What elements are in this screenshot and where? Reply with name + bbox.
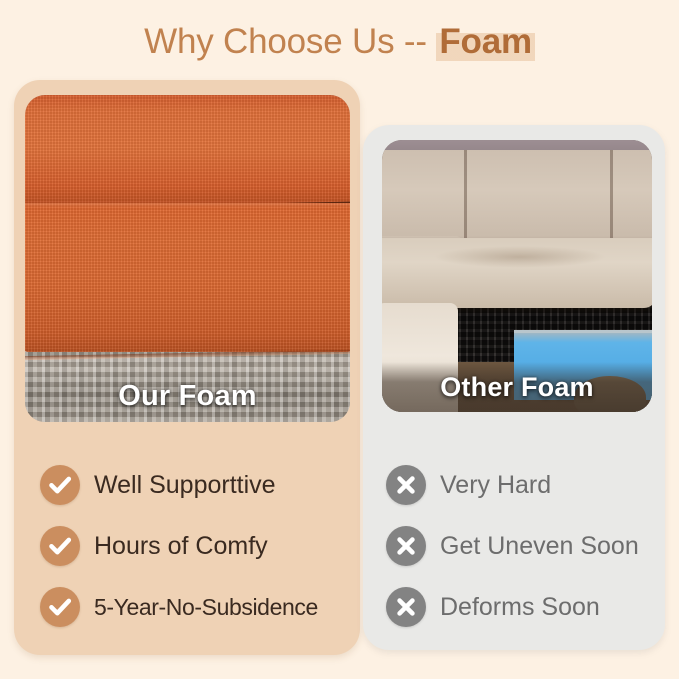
check-icon (40, 587, 80, 627)
list-item-label: Get Uneven Soon (440, 533, 639, 559)
list-item-label: Deforms Soon (440, 594, 600, 620)
list-item: Hours of Comfy (40, 516, 350, 576)
list-item-label: Well Supporttive (94, 472, 276, 498)
cushion-divider (464, 150, 467, 250)
other-foam-feature-list: Very Hard Get Uneven Soon Deforms Soon (386, 455, 661, 637)
list-item: Get Uneven Soon (386, 516, 661, 576)
page-title-highlight: Foam (436, 22, 535, 61)
orange-seat-cushion (25, 203, 350, 352)
list-item-label: 5-Year-No-Subsidence (94, 595, 318, 619)
cushion-divider (610, 150, 613, 250)
list-item: Well Supporttive (40, 455, 350, 515)
our-foam-feature-list: Well Supporttive Hours of Comfy 5-Year-N… (40, 455, 350, 637)
other-foam-photo: Other Foam (382, 140, 652, 412)
check-icon (40, 465, 80, 505)
cross-icon (386, 587, 426, 627)
comparison-infographic: Why Choose Us -- Foam Our Foam Well Supp… (0, 0, 679, 679)
list-item: Deforms Soon (386, 577, 661, 637)
our-foam-caption: Our Foam (25, 380, 350, 422)
cushion-sag-shadow (434, 246, 606, 268)
check-icon (40, 526, 80, 566)
page-title-normal: Why Choose Us -- (144, 22, 436, 61)
our-foam-photo: Our Foam (25, 95, 350, 422)
cross-icon (386, 526, 426, 566)
other-foam-caption: Other Foam (382, 362, 652, 412)
orange-back-cushion (25, 95, 350, 211)
cross-icon (386, 465, 426, 505)
page-title: Why Choose Us -- Foam (0, 22, 679, 62)
list-item-label: Very Hard (440, 472, 551, 498)
beige-back-cushions (382, 150, 652, 250)
beige-seat-cushion (382, 238, 652, 308)
list-item-label: Hours of Comfy (94, 533, 268, 559)
list-item: 5-Year-No-Subsidence (40, 577, 350, 637)
list-item: Very Hard (386, 455, 661, 515)
